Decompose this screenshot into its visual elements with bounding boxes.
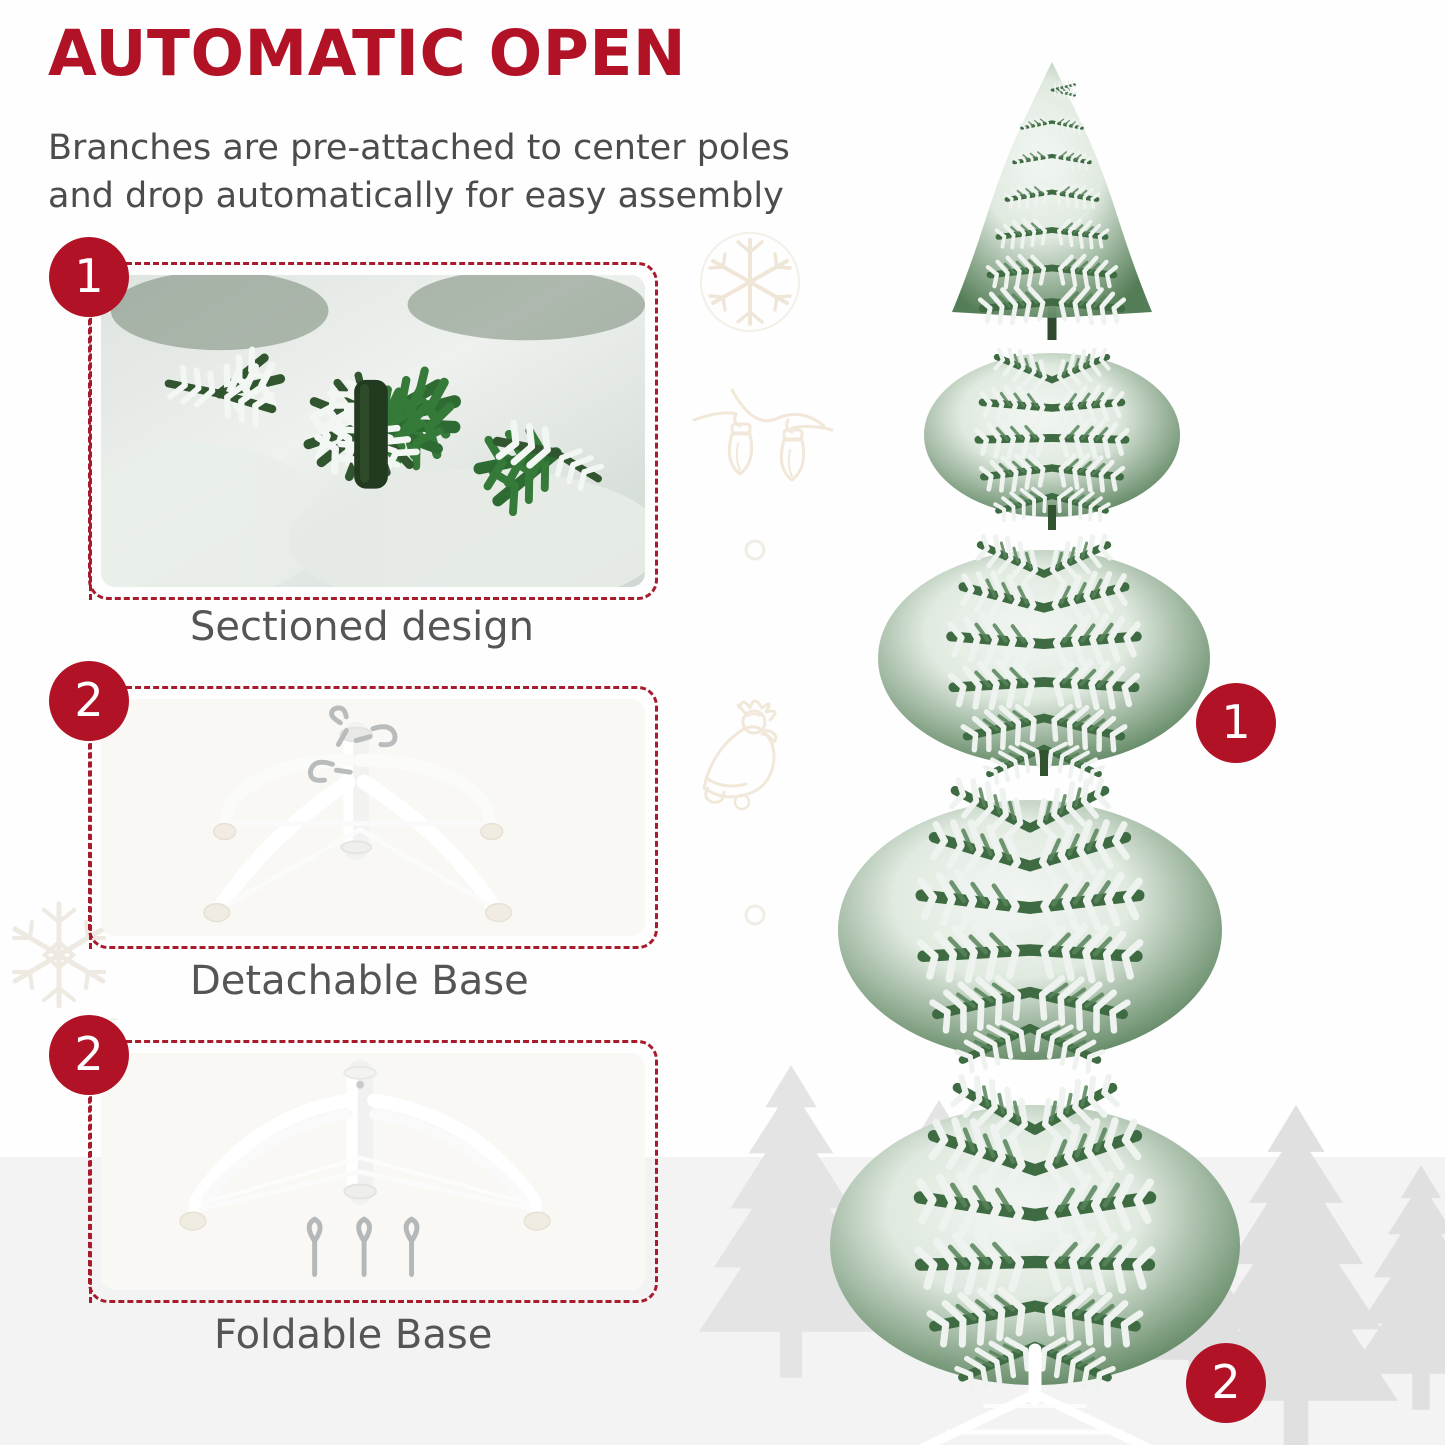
tree-bottom-section-with-stand xyxy=(830,1072,1240,1445)
flocked-branch-closeup-photo xyxy=(101,275,645,587)
tree-upper-section xyxy=(924,346,1180,530)
badge-panel-3: 2 xyxy=(49,1015,129,1095)
panel-1-image-frame xyxy=(101,275,645,587)
page-subtitle: Branches are pre-attached to center pole… xyxy=(48,124,928,221)
tree-middle-section xyxy=(878,532,1210,791)
tree-lower-section xyxy=(838,775,1222,1081)
page-title: AUTOMATIC OPEN xyxy=(48,22,686,86)
center-pole xyxy=(354,380,388,489)
caption-detachable-base: Detachable Base xyxy=(190,958,529,1004)
panel-3-image-frame xyxy=(101,1053,645,1290)
panel-2-image-frame xyxy=(101,699,645,936)
badge-panel-1: 1 xyxy=(49,237,129,317)
infographic-canvas: 1 Sectioned design xyxy=(0,0,1445,1445)
panel-detachable-base xyxy=(88,686,658,949)
subtitle-line-2: and drop automatically for easy assembly xyxy=(48,172,928,220)
marker-tree-sections: 1 xyxy=(1196,683,1276,763)
detachable-base-photo xyxy=(101,699,645,936)
marker-tree-base: 2 xyxy=(1186,1343,1266,1423)
caption-sectioned-design: Sectioned design xyxy=(190,604,534,650)
caption-foldable-base: Foldable Base xyxy=(214,1312,492,1358)
panel-sectioned-design xyxy=(88,262,658,600)
badge-panel-2: 2 xyxy=(49,661,129,741)
panel-foldable-base xyxy=(88,1040,658,1303)
subtitle-line-1: Branches are pre-attached to center pole… xyxy=(48,124,928,172)
foldable-base-photo xyxy=(101,1053,645,1290)
tree-top-section xyxy=(952,62,1152,340)
